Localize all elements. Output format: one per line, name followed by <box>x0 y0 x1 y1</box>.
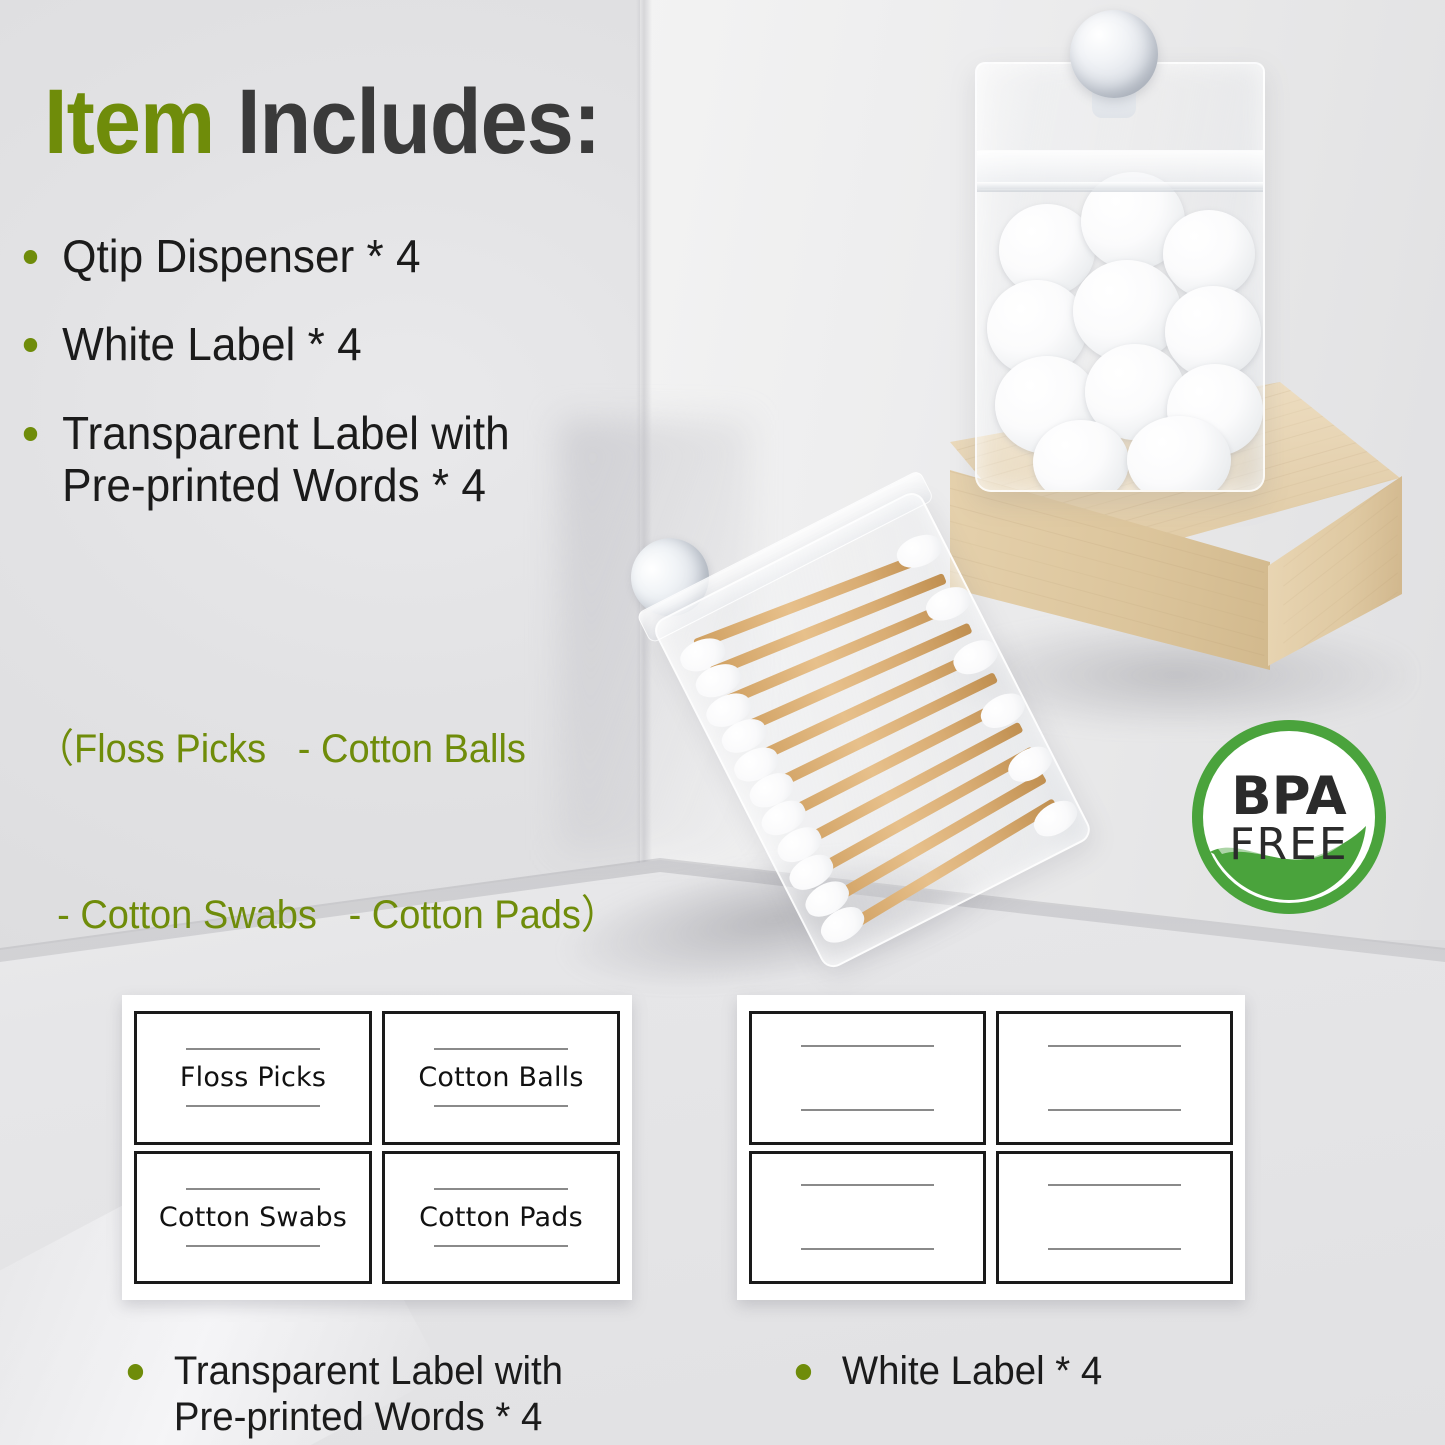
transparent-label-sheet: Floss Picks Cotton Balls Cotton Swabs Co… <box>122 995 632 1300</box>
label-rule-top <box>434 1048 569 1050</box>
bpa-badge-line1: BPA <box>1231 766 1346 827</box>
label-cell <box>749 1011 986 1145</box>
label-rule-bottom <box>1048 1248 1182 1250</box>
label-text: Floss Picks <box>180 1062 326 1093</box>
label-rule-bottom <box>1048 1109 1182 1111</box>
label-text: Cotton Balls <box>418 1062 583 1093</box>
jar-lid-seam <box>975 182 1265 192</box>
caption-transparent-labels: Transparent Label with Pre-printed Words… <box>122 1348 621 1441</box>
label-rule-bottom <box>434 1245 569 1247</box>
list-item: White Label * 4 <box>18 318 652 370</box>
label-words-note-line2: - Cotton Swabs - Cotton Pads） <box>36 888 644 943</box>
label-text: Cotton Pads <box>419 1202 583 1233</box>
label-words-note-line1: （Floss Picks - Cotton Balls <box>36 722 644 777</box>
label-cell: Cotton Balls <box>382 1011 620 1145</box>
label-cell: Floss Picks <box>134 1011 372 1145</box>
jar-ball-knob <box>1070 10 1158 98</box>
caption-white-labels: White Label * 4 <box>790 1348 1241 1394</box>
label-card: Cotton Balls <box>382 1011 620 1145</box>
label-card: Cotton Swabs <box>134 1151 372 1285</box>
list-item: Transparent Label with Pre-printed Words… <box>18 407 652 512</box>
label-card-blank <box>749 1011 986 1145</box>
label-card: Floss Picks <box>134 1011 372 1145</box>
label-rule-top <box>186 1048 321 1050</box>
label-cell: Cotton Pads <box>382 1151 620 1285</box>
label-cell <box>749 1151 986 1285</box>
label-rule-bottom <box>801 1248 935 1250</box>
label-rule-top <box>801 1184 935 1186</box>
label-card-blank <box>749 1151 986 1285</box>
label-cell: Cotton Swabs <box>134 1151 372 1285</box>
includes-list: Qtip Dispenser * 4 White Label * 4 Trans… <box>18 230 678 548</box>
list-item: Qtip Dispenser * 4 <box>18 230 652 282</box>
cotton-ball-jar <box>975 62 1265 492</box>
bpa-free-badge: BPA FREE <box>1190 718 1388 916</box>
label-rule-top <box>1048 1045 1182 1047</box>
label-text: Cotton Swabs <box>159 1202 347 1233</box>
page-title-green: Item <box>44 71 214 173</box>
page-title: Item Includes: <box>44 76 600 168</box>
label-rule-top <box>434 1188 569 1190</box>
bpa-badge-line2: FREE <box>1229 819 1348 870</box>
label-rule-top <box>1048 1184 1182 1186</box>
label-rule-bottom <box>434 1105 569 1107</box>
label-cell <box>996 1011 1233 1145</box>
label-rule-bottom <box>186 1105 321 1107</box>
label-card-blank <box>996 1011 1233 1145</box>
label-rule-bottom <box>801 1109 935 1111</box>
label-card: Cotton Pads <box>382 1151 620 1285</box>
label-cell <box>996 1151 1233 1285</box>
white-label-sheet <box>737 995 1245 1300</box>
label-rule-top <box>186 1188 321 1190</box>
list-item-label: Transparent Label with Pre-printed Words… <box>62 407 510 511</box>
label-rule-top <box>801 1045 935 1047</box>
label-words-note: （Floss Picks - Cotton Balls - Cotton Swa… <box>36 612 644 998</box>
label-rule-bottom <box>186 1245 321 1247</box>
label-card-blank <box>996 1151 1233 1285</box>
page-title-dark: Includes: <box>237 71 600 173</box>
list-item-label: White Label * 4 <box>62 318 361 370</box>
list-item-label: Qtip Dispenser * 4 <box>62 230 420 282</box>
